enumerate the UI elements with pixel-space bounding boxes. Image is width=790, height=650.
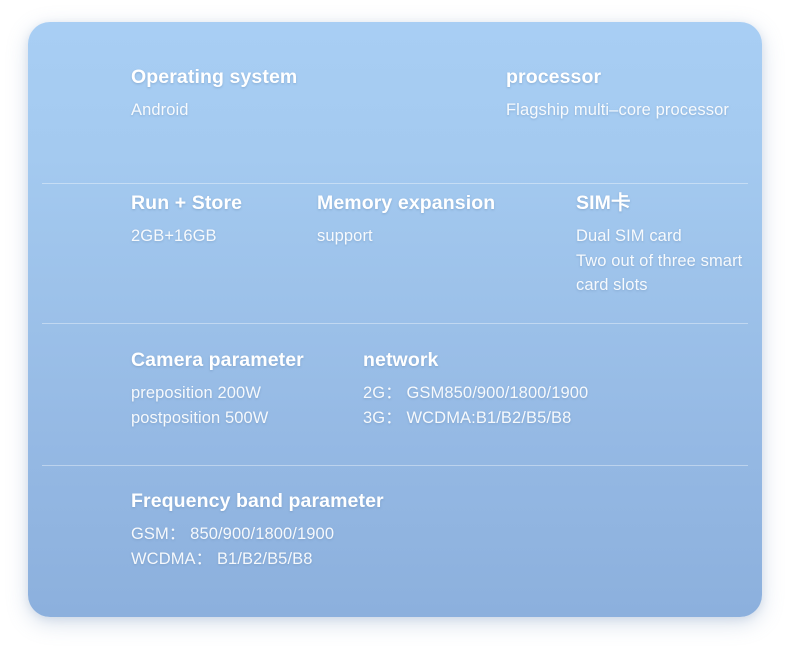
spec-heading-camera-parameter: Camera parameter	[131, 349, 304, 372]
section-divider	[42, 183, 748, 184]
spec-value-network-2g: 2G： GSM850/900/1800/1900	[363, 381, 588, 405]
spec-heading-network: network	[363, 349, 588, 372]
spec-value-camera-rear: postposition 500W	[131, 406, 304, 430]
spec-value-memory-expansion: support	[317, 224, 495, 248]
spec-item-network: network 2G： GSM850/900/1800/1900 3G： WCD…	[363, 349, 588, 430]
spec-value-sim-card-line-1: Dual SIM card	[576, 224, 742, 248]
spec-item-sim-card: SIM卡 Dual SIM card Two out of three smar…	[576, 192, 742, 298]
spec-section-memory: Run + Store 2GB+16GB Memory expansion su…	[28, 192, 762, 312]
spec-value-sim-card-line-2: Two out of three smart	[576, 249, 742, 273]
spec-value-operating-system: Android	[131, 98, 297, 122]
spec-item-processor: processor Flagship multi–core processor	[506, 66, 729, 123]
spec-value-network-3g: 3G： WCDMA:B1/B2/B5/B8	[363, 406, 588, 430]
spec-heading-frequency-band: Frequency band parameter	[131, 490, 384, 513]
spec-section-frequency: Frequency band parameter GSM： 850/900/18…	[28, 490, 762, 590]
spec-section-camera: Camera parameter preposition 200W postpo…	[28, 349, 762, 444]
spec-heading-memory-expansion: Memory expansion	[317, 192, 495, 215]
spec-heading-operating-system: Operating system	[131, 66, 297, 89]
spec-card: Operating system Android processor Flags…	[28, 22, 762, 617]
spec-value-processor: Flagship multi–core processor	[506, 98, 729, 122]
spec-value-run-store: 2GB+16GB	[131, 224, 242, 248]
spec-item-run-store: Run + Store 2GB+16GB	[131, 192, 242, 249]
spec-item-frequency-band: Frequency band parameter GSM： 850/900/18…	[131, 490, 384, 571]
spec-value-sim-card-line-3: card slots	[576, 273, 742, 297]
spec-item-operating-system: Operating system Android	[131, 66, 297, 123]
spec-value-frequency-gsm: GSM： 850/900/1800/1900	[131, 522, 384, 546]
spec-heading-processor: processor	[506, 66, 729, 89]
spec-value-camera-front: preposition 200W	[131, 381, 304, 405]
spec-item-camera-parameter: Camera parameter preposition 200W postpo…	[131, 349, 304, 430]
spec-value-frequency-wcdma: WCDMA： B1/B2/B5/B8	[131, 547, 384, 571]
spec-section-os: Operating system Android processor Flags…	[28, 66, 762, 161]
section-divider	[42, 323, 748, 324]
section-divider	[42, 465, 748, 466]
spec-heading-run-store: Run + Store	[131, 192, 242, 215]
spec-heading-sim-card: SIM卡	[576, 192, 742, 215]
spec-item-memory-expansion: Memory expansion support	[317, 192, 495, 249]
